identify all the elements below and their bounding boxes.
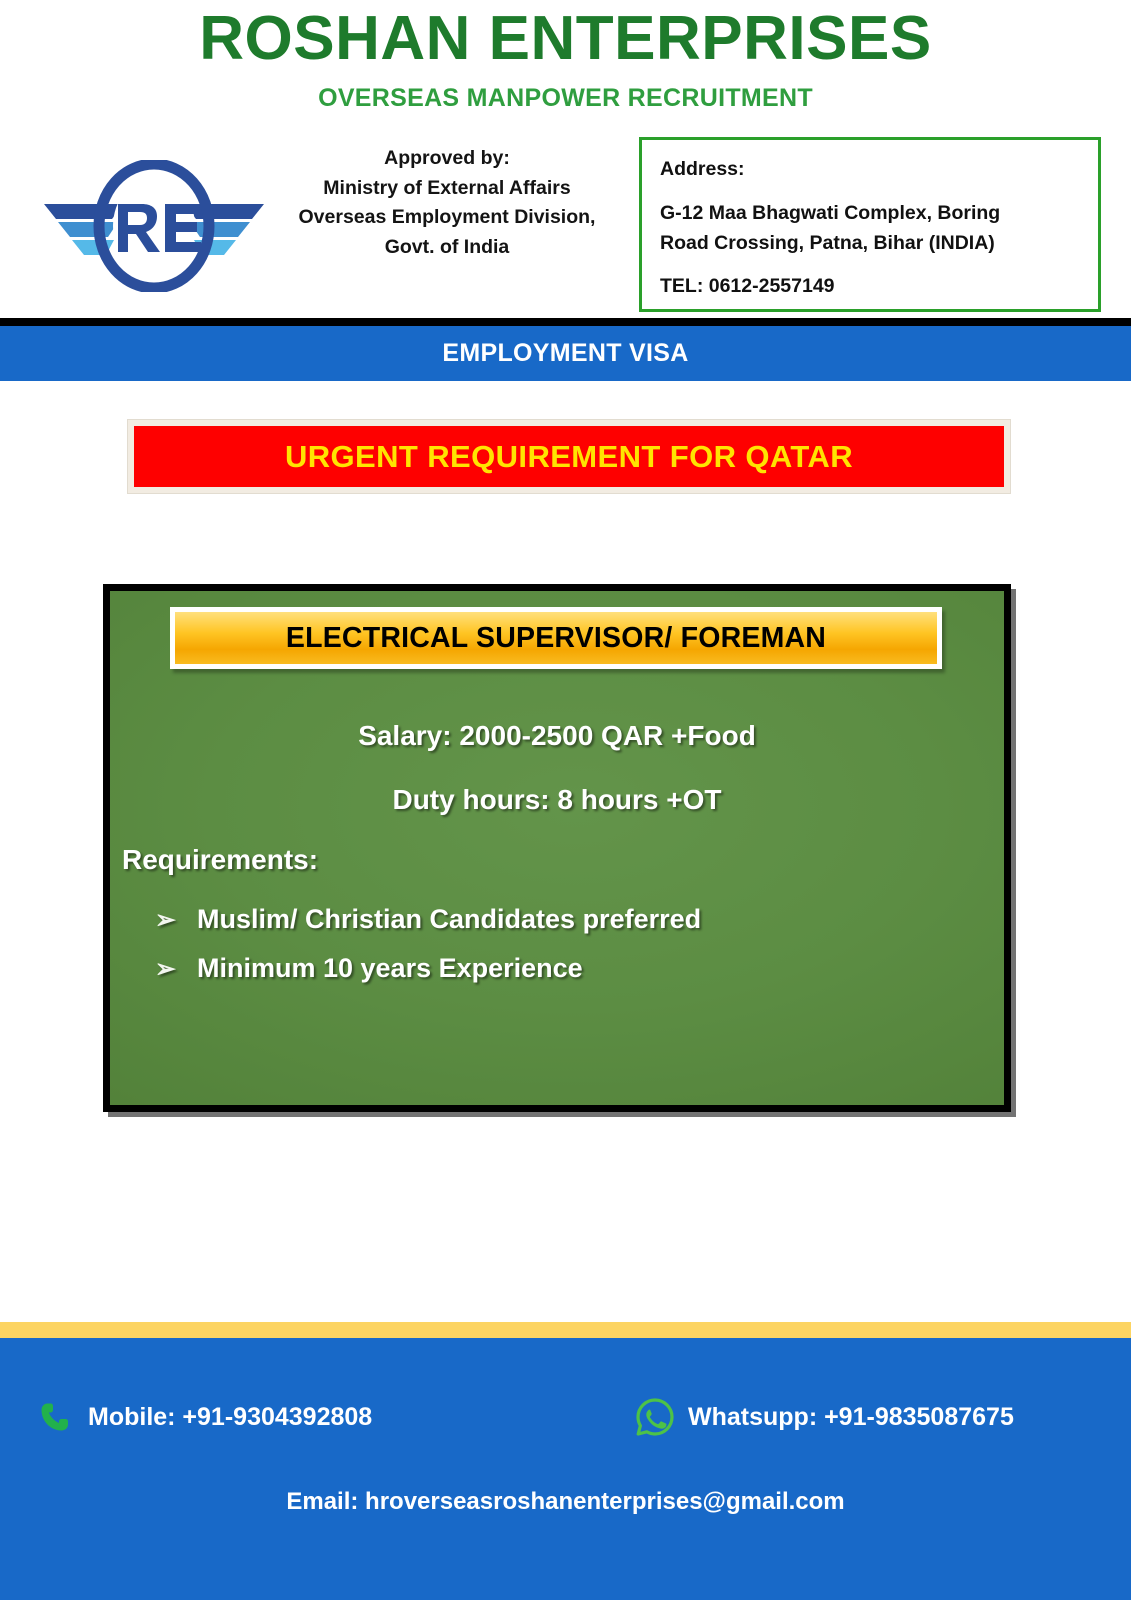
footer-gold-divider	[0, 1322, 1131, 1338]
approved-by-line2: Overseas Employment Division,	[272, 203, 622, 233]
urgent-banner-text: URGENT REQUIREMENT FOR QATAR	[285, 439, 853, 475]
address-box: Address: G-12 Maa Bhagwati Complex, Bori…	[639, 137, 1101, 312]
job-details-card: ELECTRICAL SUPERVISOR/ FOREMAN Salary: 2…	[103, 584, 1011, 1112]
header-lower: Approved by: Ministry of External Affair…	[0, 132, 1131, 318]
whatsapp-number: Whatsupp: +91-9835087675	[688, 1403, 1014, 1432]
address-line-1: G-12 Maa Bhagwati Complex, Boring	[660, 198, 1098, 228]
mobile-contact[interactable]: Mobile: +91-9304392808	[32, 1392, 372, 1442]
recruitment-flyer: ROSHAN ENTERPRISES OVERSEAS MANPOWER REC…	[0, 0, 1131, 1600]
requirements-list: ➢ Muslim/ Christian Candidates preferred…	[155, 904, 975, 1002]
employment-visa-banner: EMPLOYMENT VISA	[0, 326, 1131, 381]
approved-by-block: Approved by: Ministry of External Affair…	[272, 144, 622, 263]
job-duty-hours: Duty hours: 8 hours +OT	[110, 784, 1004, 816]
employment-visa-label: EMPLOYMENT VISA	[0, 326, 1131, 381]
job-title: ELECTRICAL SUPERVISOR/ FOREMAN	[286, 622, 826, 655]
company-name: ROSHAN ENTERPRISES	[0, 0, 1131, 70]
approved-by-label: Approved by:	[272, 144, 622, 174]
re-monogram-icon	[38, 160, 270, 292]
footer: Mobile: +91-9304392808 Whatsupp: +91-983…	[0, 1338, 1131, 1600]
job-title-frame: ELECTRICAL SUPERVISOR/ FOREMAN	[170, 607, 942, 669]
address-label: Address:	[660, 154, 1098, 184]
arrow-bullet-icon: ➢	[155, 954, 197, 984]
requirement-text: Minimum 10 years Experience	[197, 953, 583, 984]
urgent-banner-frame: URGENT REQUIREMENT FOR QATAR	[127, 419, 1011, 494]
header: ROSHAN ENTERPRISES OVERSEAS MANPOWER REC…	[0, 0, 1131, 318]
approved-by-line1: Ministry of External Affairs	[272, 174, 622, 204]
requirements-heading: Requirements:	[122, 844, 318, 876]
header-divider	[0, 318, 1131, 326]
email-address[interactable]: Email: hroverseasroshanenterprises@gmail…	[0, 1488, 1131, 1516]
contact-row: Mobile: +91-9304392808 Whatsupp: +91-983…	[0, 1392, 1131, 1442]
job-title-banner: ELECTRICAL SUPERVISOR/ FOREMAN	[175, 612, 937, 664]
whatsapp-icon	[632, 1394, 678, 1440]
telephone: TEL: 0612-2557149	[660, 271, 1098, 301]
approved-by-line3: Govt. of India	[272, 233, 622, 263]
company-tagline: OVERSEAS MANPOWER RECRUITMENT	[0, 84, 1131, 113]
mobile-number: Mobile: +91-9304392808	[88, 1403, 372, 1432]
list-item: ➢ Muslim/ Christian Candidates preferred	[155, 904, 975, 935]
phone-icon	[32, 1394, 78, 1440]
arrow-bullet-icon: ➢	[155, 905, 197, 935]
whatsapp-contact[interactable]: Whatsupp: +91-9835087675	[632, 1392, 1014, 1442]
address-line-2: Road Crossing, Patna, Bihar (INDIA)	[660, 228, 1098, 258]
list-item: ➢ Minimum 10 years Experience	[155, 953, 975, 984]
company-logo	[38, 160, 270, 292]
urgent-banner: URGENT REQUIREMENT FOR QATAR	[134, 426, 1004, 487]
requirement-text: Muslim/ Christian Candidates preferred	[197, 904, 701, 935]
job-salary: Salary: 2000-2500 QAR +Food	[110, 720, 1004, 752]
